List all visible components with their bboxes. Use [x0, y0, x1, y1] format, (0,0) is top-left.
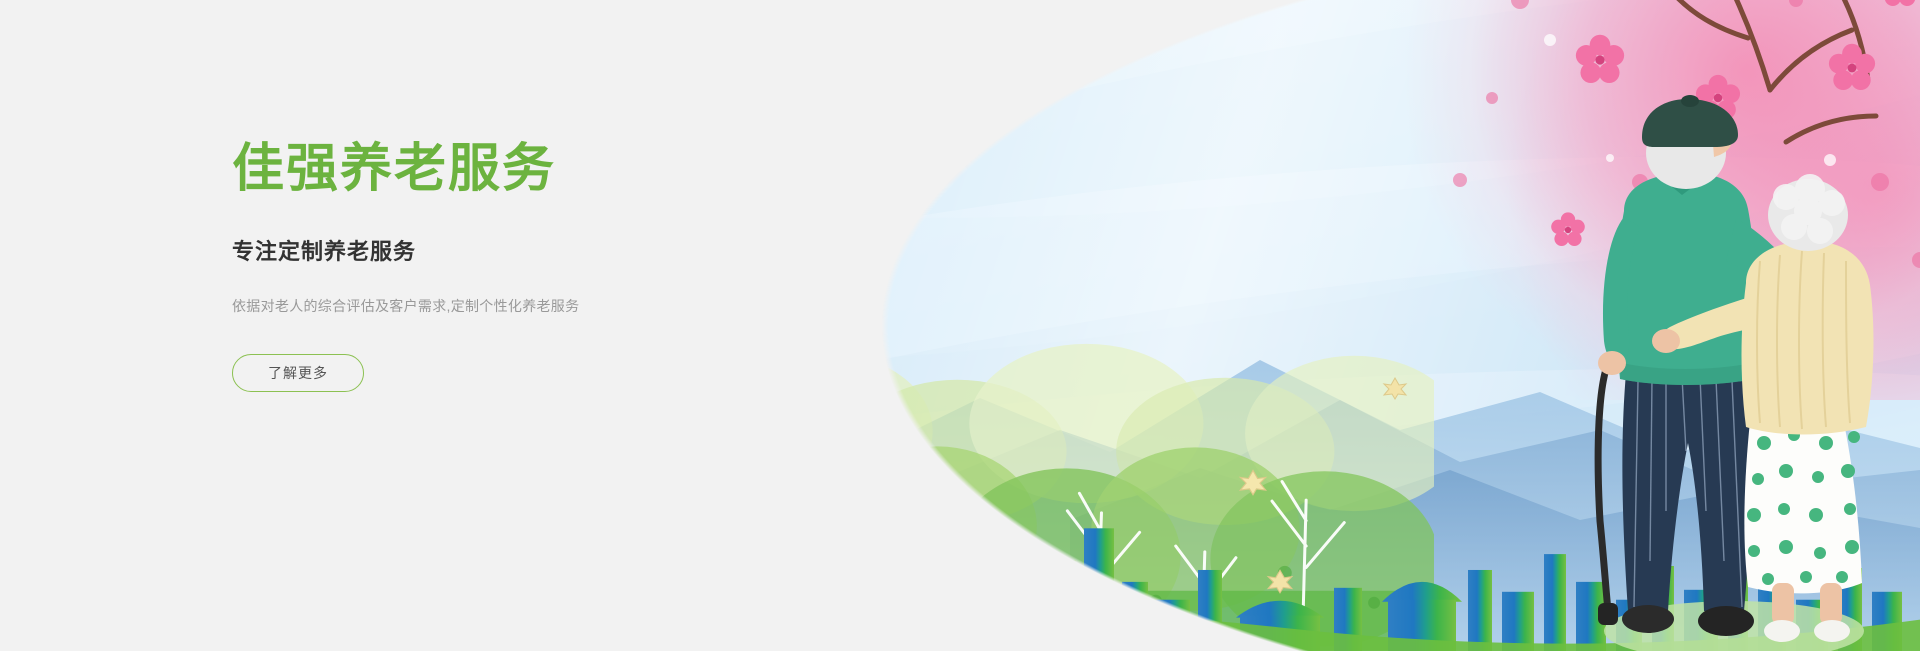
learn-more-button[interactable]: 了解更多: [232, 354, 364, 392]
hero-description: 依据对老人的综合评估及客户需求,定制个性化养老服务: [232, 296, 652, 316]
elderly-couple-illustration: [1554, 91, 1884, 651]
man-jacket: [1617, 173, 1757, 385]
falling-leaf-icon: [1382, 376, 1408, 400]
man-shoe-left: [1622, 605, 1674, 633]
falling-leaf-icon: [1238, 468, 1268, 496]
page-title: 佳强养老服务: [232, 140, 652, 200]
woman-left-hand: [1652, 329, 1680, 353]
woman-shoe-right: [1814, 620, 1850, 642]
walking-cane: [1598, 359, 1618, 625]
hero-illustration: [640, 0, 1920, 651]
hot-air-balloon-icon: [825, 78, 871, 156]
hero-banner: 佳强养老服务 专注定制养老服务 依据对老人的综合评估及客户需求,定制个性化养老服…: [0, 0, 1920, 651]
man-left-hand: [1598, 351, 1626, 375]
man-shoe-right: [1698, 606, 1754, 636]
woman-leg-right: [1820, 583, 1842, 625]
hero-text-block: 佳强养老服务 专注定制养老服务 依据对老人的综合评估及客户需求,定制个性化养老服…: [232, 140, 652, 392]
woman-cardigan: [1742, 241, 1874, 435]
falling-leaf-icon: [1266, 568, 1294, 594]
hero-subtitle: 专注定制养老服务: [232, 234, 652, 266]
woman-shoe-left: [1764, 620, 1800, 642]
woman-leg-left: [1772, 583, 1794, 625]
